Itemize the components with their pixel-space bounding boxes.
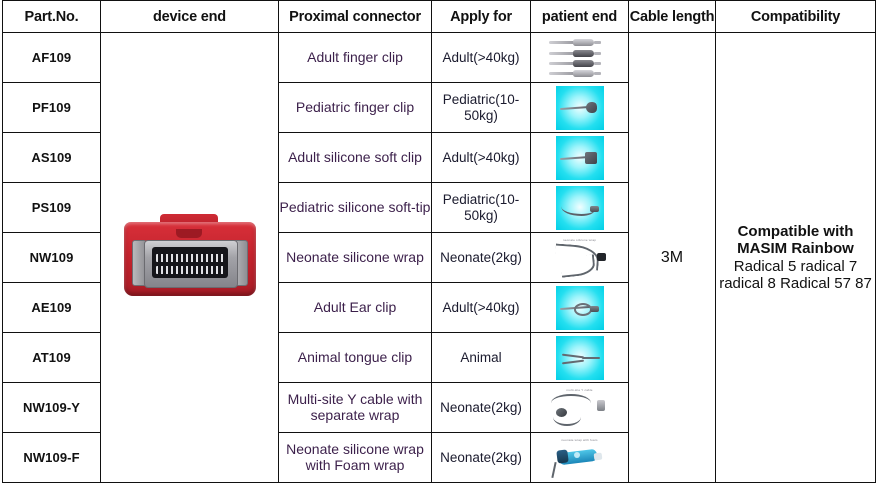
cell-patient-end bbox=[531, 183, 629, 233]
neonate-silicone-wrap-image: neonate silicone wrap bbox=[541, 236, 619, 280]
cell-proximal-connector: Pediatric finger clip bbox=[279, 83, 432, 133]
cell-proximal-connector: Adult finger clip bbox=[279, 33, 432, 83]
cell-proximal-connector: Neonate silicone wrap bbox=[279, 233, 432, 283]
cell-apply-for: Neonate(2kg) bbox=[432, 233, 531, 283]
table-row: AF109 bbox=[3, 33, 876, 83]
table-header-row: Part.No. device end Proximal connector A… bbox=[3, 1, 876, 33]
pediatric-silicone-soft-tip-image bbox=[556, 186, 604, 230]
column-header-proximal-connector: Proximal connector bbox=[279, 1, 432, 33]
cell-apply-for: Pediatric(10-50kg) bbox=[432, 83, 531, 133]
cell-part-no: AE109 bbox=[3, 283, 101, 333]
cell-part-no: NW109-Y bbox=[3, 383, 101, 433]
cell-apply-for: Adult(>40kg) bbox=[432, 33, 531, 83]
compatibility-line-1: Compatible with bbox=[716, 223, 875, 240]
cell-part-no: AS109 bbox=[3, 133, 101, 183]
cell-proximal-connector: Multi-site Y cable with separate wrap bbox=[279, 383, 432, 433]
cell-apply-for: Pediatric(10-50kg) bbox=[432, 183, 531, 233]
column-header-cable-length: Cable length bbox=[629, 1, 716, 33]
cell-cable-length: 3M bbox=[629, 33, 716, 483]
cell-proximal-connector: Neonate silicone wrap with Foam wrap bbox=[279, 433, 432, 483]
column-header-patient-end: patient end bbox=[531, 1, 629, 33]
pediatric-finger-clip-sensor-image bbox=[556, 86, 604, 130]
cell-patient-end bbox=[531, 283, 629, 333]
compatibility-line-3: Radical 5 radical 7 radical 8 Radical 57… bbox=[716, 258, 875, 293]
sensor-compatibility-table: Part.No. device end Proximal connector A… bbox=[2, 0, 876, 483]
cell-apply-for: Animal bbox=[432, 333, 531, 383]
cell-apply-for: Adult(>40kg) bbox=[432, 133, 531, 183]
finger-clip-sensor-group-image bbox=[543, 36, 617, 80]
cell-part-no: NW109-F bbox=[3, 433, 101, 483]
adult-silicone-soft-clip-image bbox=[556, 136, 604, 180]
cell-apply-for: Neonate(2kg) bbox=[432, 383, 531, 433]
cell-device-end bbox=[101, 33, 279, 483]
cell-proximal-connector: Adult silicone soft clip bbox=[279, 133, 432, 183]
cell-part-no: PS109 bbox=[3, 183, 101, 233]
cell-part-no: NW109 bbox=[3, 233, 101, 283]
cell-patient-end bbox=[531, 83, 629, 133]
column-header-part-no: Part.No. bbox=[3, 1, 101, 33]
cell-patient-end bbox=[531, 33, 629, 83]
cell-part-no: AT109 bbox=[3, 333, 101, 383]
cell-patient-end bbox=[531, 133, 629, 183]
product-spec-page: Part.No. device end Proximal connector A… bbox=[0, 0, 877, 491]
cell-patient-end: neonate wrap with foam bbox=[531, 433, 629, 483]
table-body: AF109 bbox=[3, 33, 876, 483]
table-header: Part.No. device end Proximal connector A… bbox=[3, 1, 876, 33]
cell-part-no: PF109 bbox=[3, 83, 101, 133]
cell-apply-for: Neonate(2kg) bbox=[432, 433, 531, 483]
compatibility-line-2: MASIM Rainbow bbox=[716, 240, 875, 257]
neonate-foam-wrap-image: neonate wrap with foam bbox=[541, 436, 619, 480]
column-header-apply-for: Apply for bbox=[432, 1, 531, 33]
cell-apply-for: Adult(>40kg) bbox=[432, 283, 531, 333]
cell-part-no: AF109 bbox=[3, 33, 101, 83]
column-header-compatibility: Compatibility bbox=[716, 1, 876, 33]
multi-site-y-cable-image: multi-site Y cable bbox=[541, 386, 619, 430]
cell-proximal-connector: Animal tongue clip bbox=[279, 333, 432, 383]
cell-proximal-connector: Pediatric silicone soft-tip bbox=[279, 183, 432, 233]
animal-tongue-clip-image bbox=[556, 336, 604, 380]
cell-proximal-connector: Adult Ear clip bbox=[279, 283, 432, 333]
red-connector-image bbox=[101, 214, 278, 302]
cell-compatibility: Compatible with MASIM Rainbow Radical 5 … bbox=[716, 33, 876, 483]
cell-patient-end bbox=[531, 333, 629, 383]
column-header-device-end: device end bbox=[101, 1, 279, 33]
cell-patient-end: neonate silicone wrap bbox=[531, 233, 629, 283]
adult-ear-clip-image bbox=[556, 286, 604, 330]
cell-patient-end: multi-site Y cable bbox=[531, 383, 629, 433]
